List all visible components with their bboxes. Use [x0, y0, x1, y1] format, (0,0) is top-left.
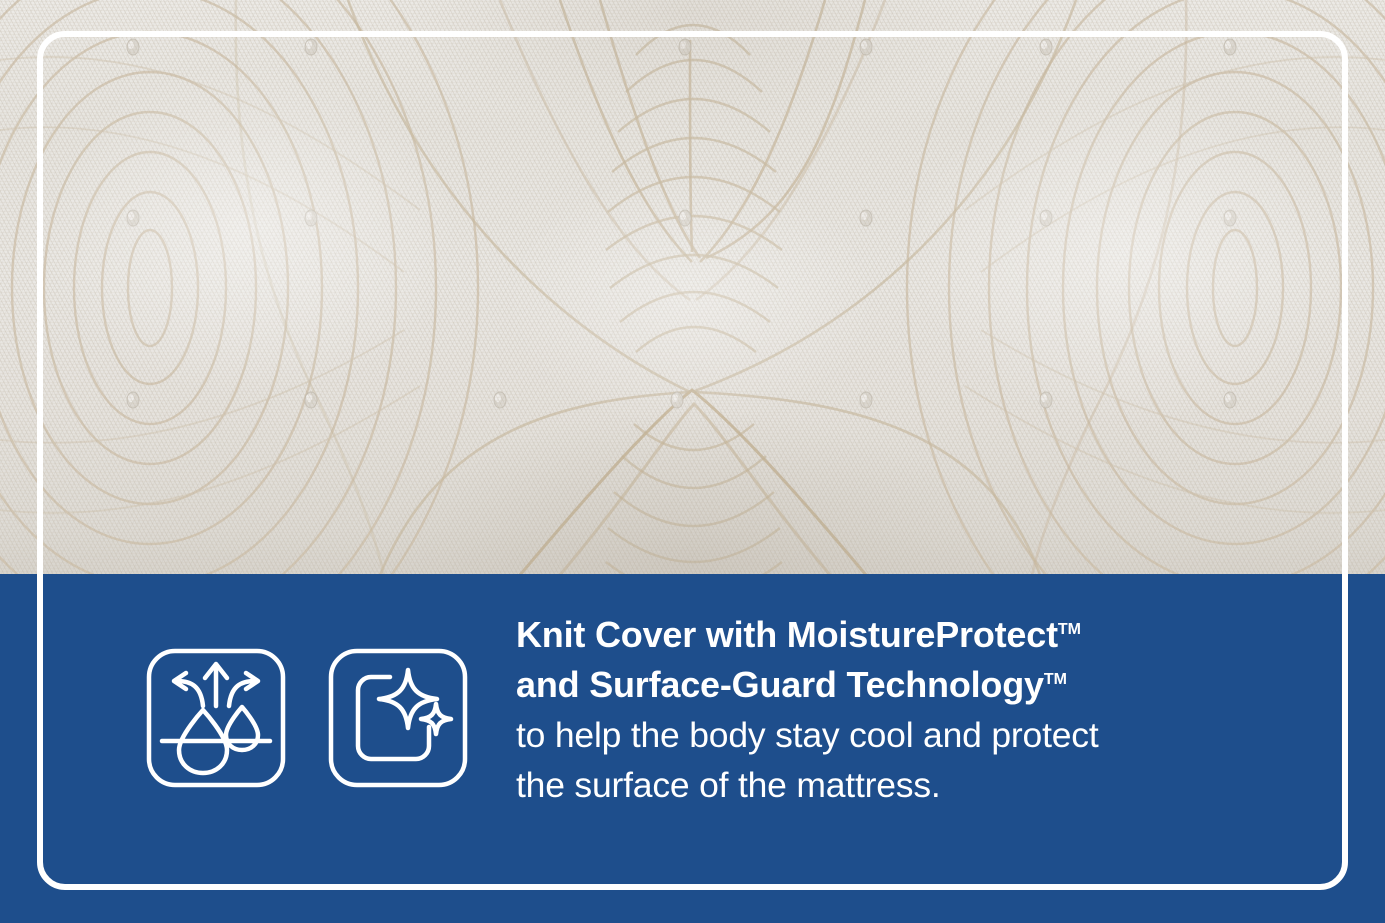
moisture-wicking-icon	[146, 648, 286, 788]
copy-line-2-text: and Surface-Guard Technology	[516, 664, 1044, 705]
copy-line-3: to help the body stay cool and protect	[516, 710, 1276, 760]
copy-line-1: Knit Cover with MoistureProtectTM	[516, 610, 1276, 660]
feature-icon-group	[146, 648, 468, 788]
trademark-symbol-1: TM	[1058, 621, 1081, 638]
feature-banner: Knit Cover with MoistureProtectTM and Su…	[0, 0, 1385, 923]
copy-line-1-text: Knit Cover with MoistureProtect	[516, 614, 1058, 655]
surface-guard-icon	[328, 648, 468, 788]
copy-line-4: the surface of the mattress.	[516, 760, 1276, 810]
feature-copy: Knit Cover with MoistureProtectTM and Su…	[516, 610, 1276, 810]
panel-content: Knit Cover with MoistureProtectTM and Su…	[0, 574, 1385, 923]
mattress-fabric-image	[0, 0, 1385, 575]
sparkle-small-icon	[421, 704, 451, 734]
trademark-symbol-2: TM	[1044, 671, 1067, 688]
copy-line-2: and Surface-Guard TechnologyTM	[516, 660, 1276, 710]
fabric-rib-layer	[0, 0, 1385, 575]
